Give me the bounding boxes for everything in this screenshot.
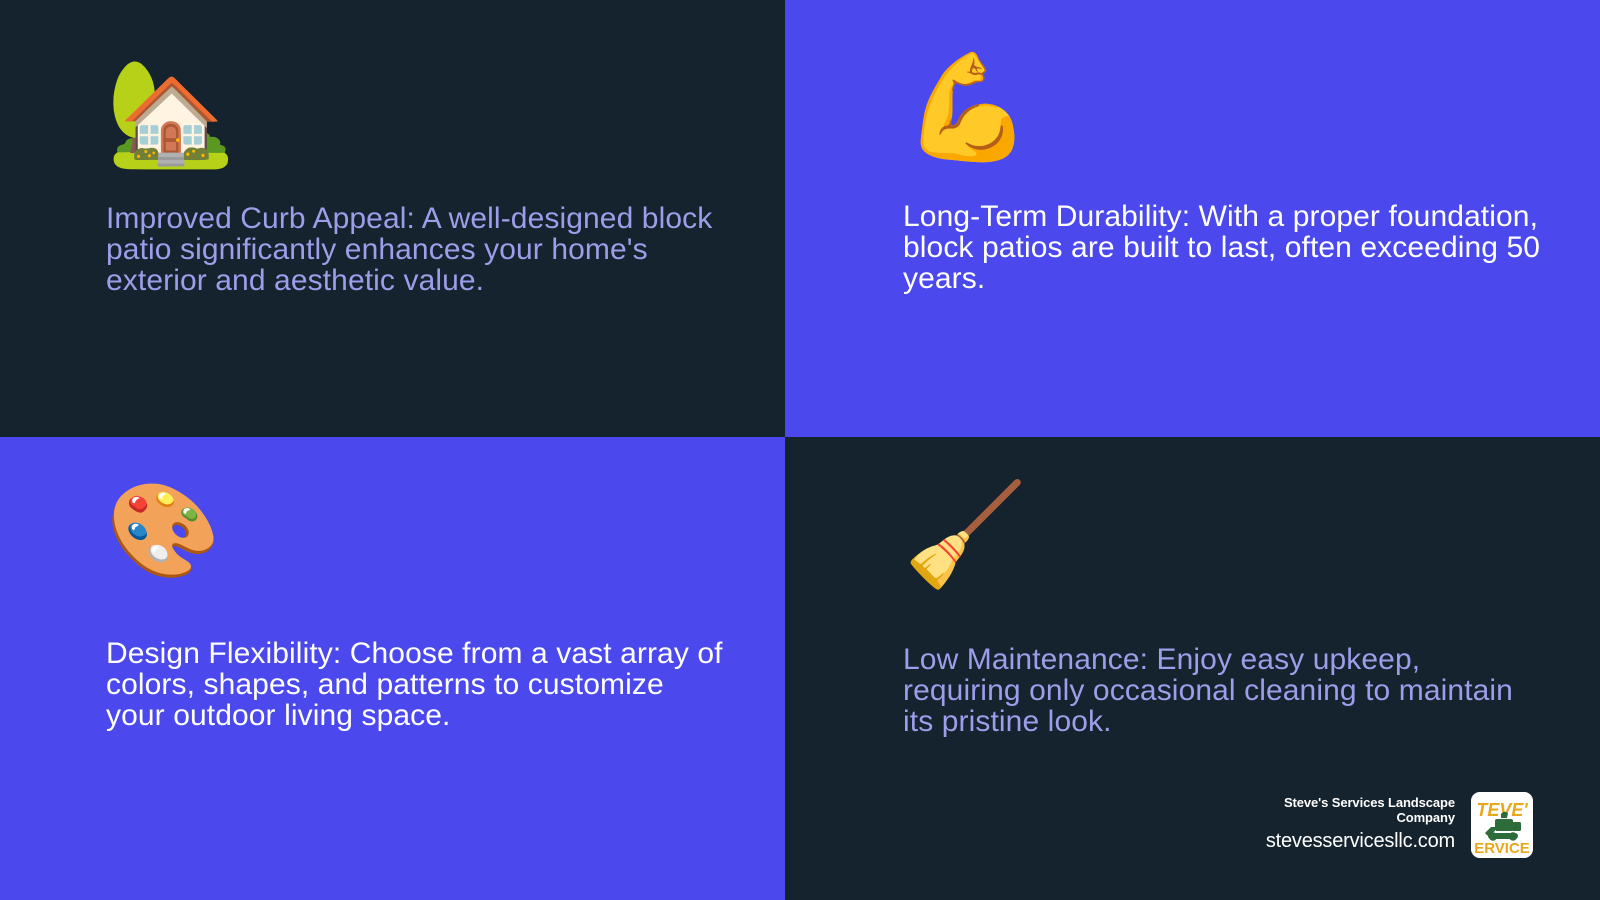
- panel-design-flexibility: 🎨 Design Flexibility: Choose from a vast…: [0, 437, 785, 900]
- flexed-biceps-icon: 💪: [903, 55, 1550, 175]
- artist-palette-icon: 🎨: [106, 485, 725, 601]
- panel-text-improved-curb-appeal: Improved Curb Appeal: A well-designed bl…: [106, 204, 725, 297]
- logo-bottom-text: ERVICE: [1474, 840, 1530, 857]
- panel-low-maintenance: 🧹 Low Maintenance: Enjoy easy upkeep, re…: [785, 437, 1600, 900]
- panel-text-long-term-durability: Long-Term Durability: With a proper foun…: [903, 202, 1550, 295]
- broom-icon: 🧹: [903, 485, 1540, 617]
- company-logo: TEVE' ERVICE: [1471, 792, 1533, 858]
- branding-footer: Steve's Services Landscape Company steve…: [1259, 792, 1533, 858]
- infographic-canvas: 🏡 Improved Curb Appeal: A well-designed …: [0, 0, 1600, 900]
- panel-long-term-durability: 💪 Long-Term Durability: With a proper fo…: [785, 0, 1600, 437]
- house-with-garden-icon: 🏡: [106, 60, 725, 180]
- company-name: Steve's Services Landscape Company: [1259, 796, 1455, 825]
- panel-text-design-flexibility: Design Flexibility: Choose from a vast a…: [106, 639, 725, 732]
- panel-improved-curb-appeal: 🏡 Improved Curb Appeal: A well-designed …: [0, 0, 785, 437]
- company-logo-mark: TEVE' ERVICE: [1471, 792, 1533, 858]
- branding-text-block: Steve's Services Landscape Company steve…: [1259, 796, 1455, 853]
- company-website[interactable]: stevesservicesllc.com: [1259, 829, 1455, 854]
- panel-text-low-maintenance: Low Maintenance: Enjoy easy upkeep, requ…: [903, 645, 1540, 738]
